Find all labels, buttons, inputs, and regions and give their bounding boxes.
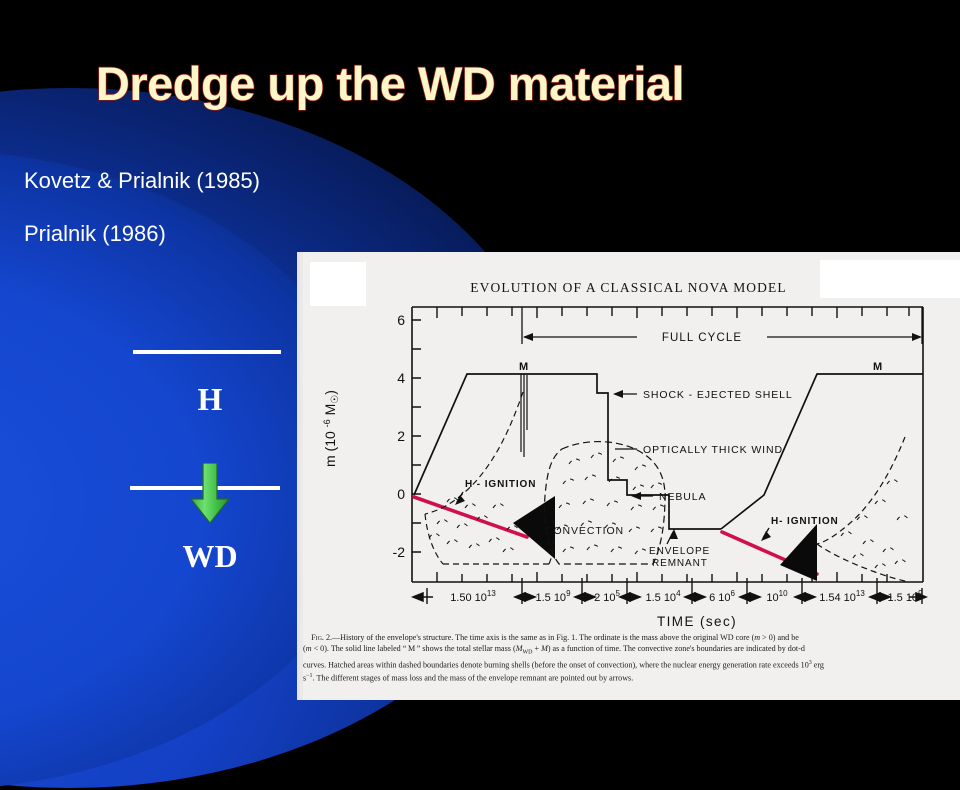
figure-caption: Fig. 2.—History of the envelope's struct… [303,633,960,684]
svg-text:m (10 -6 M☉): m (10 -6 M☉) [322,390,341,467]
svg-text:6 106: 6 106 [709,589,735,604]
caption-line-2: (m < 0). The solid line labeled “ M ” sh… [303,644,960,658]
convection-hatch-main [557,453,667,554]
reference-line-1: Kovetz & Prialnik (1985) [24,168,260,194]
svg-text:2: 2 [397,428,405,444]
bottom-axis-ticks [437,572,887,582]
convection-spike [521,374,527,457]
svg-text:1.5 109: 1.5 109 [887,589,923,604]
plot-annotations: M M SHOCK - EJECTED SHELL OPTICALLY THIC… [455,361,883,569]
svg-text:1010: 1010 [766,589,788,604]
svg-text:2 105: 2 105 [594,589,620,604]
label-h-ignition-left: H - IGNITION [465,479,536,490]
label-envelope-remnant-1: ENVELOPE [649,546,710,557]
convection-hatch-right [841,480,909,569]
top-axis-ticks [437,307,909,318]
down-arrow-icon [188,463,232,525]
svg-text:1.5 104: 1.5 104 [645,589,681,604]
label-envelope-remnant-2: REMNANT [652,558,708,569]
svg-text:-2: -2 [393,544,406,560]
svg-text:4: 4 [397,370,405,386]
hydrogen-label: H [120,381,300,418]
svg-text:6: 6 [397,312,405,328]
x-axis-label: TIME (sec) [657,614,737,629]
page-title: Dredge up the WD material [0,56,780,111]
figure-image-panel: EVOLUTION OF A CLASSICAL NOVA MODEL 6 4 … [297,252,960,700]
white-occlusion-right [820,260,960,298]
svg-text:FULL CYCLE: FULL CYCLE [662,332,742,344]
envelope-top-line [133,350,281,354]
svg-text:0: 0 [397,486,405,502]
label-convection: CONVECTION [545,525,624,537]
accretion-line-left [414,497,527,537]
white-dwarf-label: WD [120,538,300,575]
caption-line-1: Fig. 2.—History of the envelope's struct… [303,633,960,644]
y-axis-tick-labels: 6 4 2 0 -2 [393,312,406,560]
label-optically-thick-wind: OPTICALLY THICK WIND [643,444,783,456]
label-h-ignition-right: H- IGNITION [771,516,839,527]
label-shock-ejected-shell: SHOCK - EJECTED SHELL [643,389,793,401]
label-M-right: M [873,361,883,373]
svg-text:1.54 1013: 1.54 1013 [819,589,865,604]
label-nebula: NEBULA [659,491,706,503]
convection-region-right [817,437,909,582]
reference-line-2: Prialnik (1986) [24,221,166,247]
svg-text:1.5 109: 1.5 109 [535,589,571,604]
svg-text:1.50 1013: 1.50 1013 [450,589,496,604]
burning-shell-right [780,524,817,581]
caption-line-4: s−1. The different stages of mass loss a… [303,671,960,684]
white-occlusion-left [310,262,366,306]
hydrogen-wd-diagram: H WD [120,335,300,595]
y-axis-ticks [412,320,421,552]
y-axis-label: m (10 -6 M☉) [322,390,341,467]
caption-line-3: curves. Hatched areas within dashed boun… [303,658,960,671]
convection-region-main [545,442,665,564]
label-M-left: M [519,361,529,373]
